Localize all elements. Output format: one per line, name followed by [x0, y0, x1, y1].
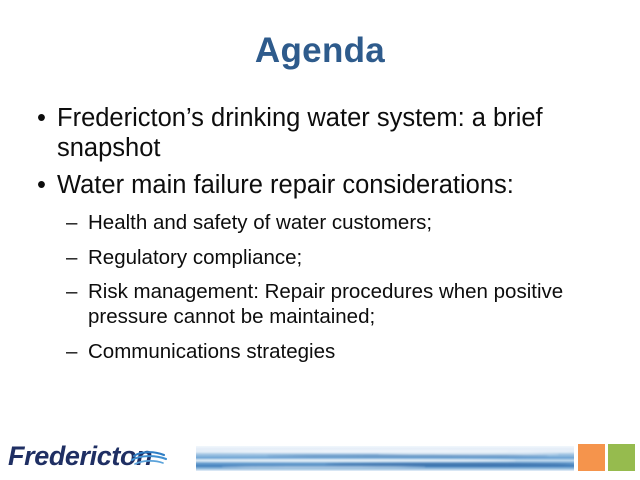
accent-swatch-green [608, 444, 635, 471]
bullet-marker-dot: • [37, 103, 46, 133]
fredericton-logo-text: Fredericton [8, 441, 152, 471]
sub-bullet-list: – Health and safety of water customers; … [30, 211, 615, 364]
bullet-marker-dot: • [37, 170, 46, 200]
sub-bullet-item: – Risk management: Repair procedures whe… [30, 280, 615, 329]
sub-bullet-item: – Health and safety of water customers; [30, 211, 615, 236]
slide-footer: Fredericton [0, 434, 640, 480]
ripple-line [222, 466, 426, 469]
ripple-line [267, 455, 548, 457]
water-ripple-band [196, 446, 574, 471]
bullet-marker-dash: – [66, 280, 77, 305]
presentation-slide: Agenda • Fredericton’s drinking water sy… [0, 0, 640, 480]
fredericton-logo: Fredericton [8, 440, 198, 474]
bullet-marker-dash: – [66, 211, 77, 236]
bullet-text: Water main failure repair considerations… [57, 171, 514, 199]
sub-bullet-item: – Regulatory compliance; [30, 246, 615, 271]
page-title: Agenda [0, 33, 640, 68]
bullet-text: Fredericton’s drinking water system: a b… [57, 104, 543, 162]
slide-body: • Fredericton’s drinking water system: a… [30, 103, 615, 374]
accent-swatch-orange [578, 444, 605, 471]
bullet-item: • Fredericton’s drinking water system: a… [30, 103, 615, 163]
bullet-marker-dash: – [66, 246, 77, 271]
sub-bullet-item: – Communications strategies [30, 340, 615, 365]
bullet-marker-dash: – [66, 340, 77, 365]
sub-bullet-text: Health and safety of water customers; [88, 211, 432, 234]
sub-bullet-text: Risk management: Repair procedures when … [88, 280, 563, 328]
sub-bullet-text: Regulatory compliance; [88, 246, 302, 269]
sub-bullet-text: Communications strategies [88, 340, 335, 363]
bullet-item: • Water main failure repair consideratio… [30, 170, 615, 200]
ripple-line [196, 459, 516, 462]
